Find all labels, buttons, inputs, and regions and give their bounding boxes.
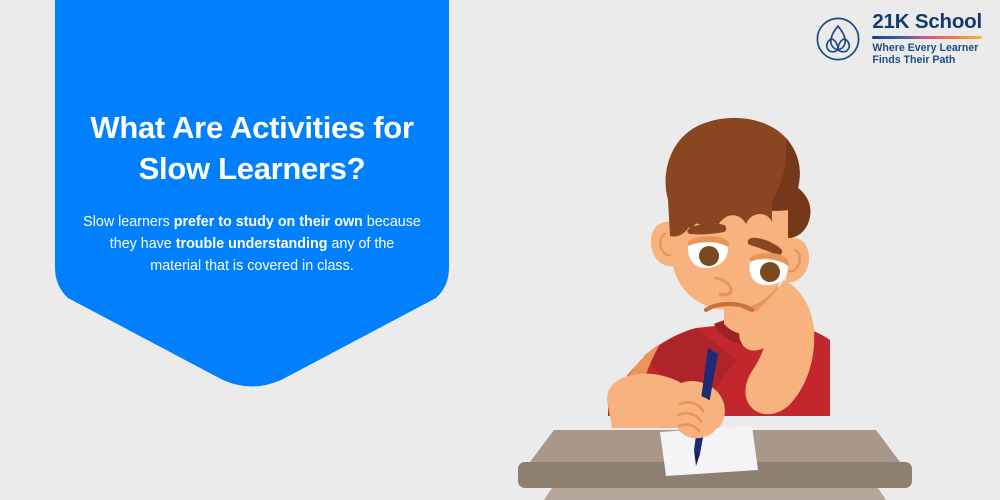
student-illustration <box>500 110 930 500</box>
right-eye <box>750 253 790 285</box>
body-segment-2-bold: prefer to study on their own <box>174 214 363 230</box>
logo-tagline-line-2: Finds Their Path <box>872 54 982 67</box>
logo-gradient-rule <box>872 36 982 39</box>
lotus-circle-logo-icon <box>815 16 861 62</box>
poster-canvas: What Are Activities for Slow Learners? S… <box>0 0 1000 500</box>
logo-tagline-line-1: Where Every Learner <box>872 42 982 55</box>
body-segment-4-bold: trouble understanding <box>176 236 328 252</box>
blue-ribbon-banner: What Are Activities for Slow Learners? S… <box>55 0 449 390</box>
logo-title: 21K School <box>872 12 982 33</box>
bored-student-graphic <box>500 110 930 500</box>
banner-text-block: What Are Activities for Slow Learners? S… <box>55 0 449 277</box>
brand-logo: 21K School Where Every Learner Finds The… <box>815 12 982 67</box>
body-segment-1: Slow learners <box>83 214 174 230</box>
page-title: What Are Activities for Slow Learners? <box>55 0 449 190</box>
banner-body-text: Slow learners prefer to study on their o… <box>55 190 449 277</box>
logo-wordmark: 21K School Where Every Learner Finds The… <box>872 12 982 67</box>
